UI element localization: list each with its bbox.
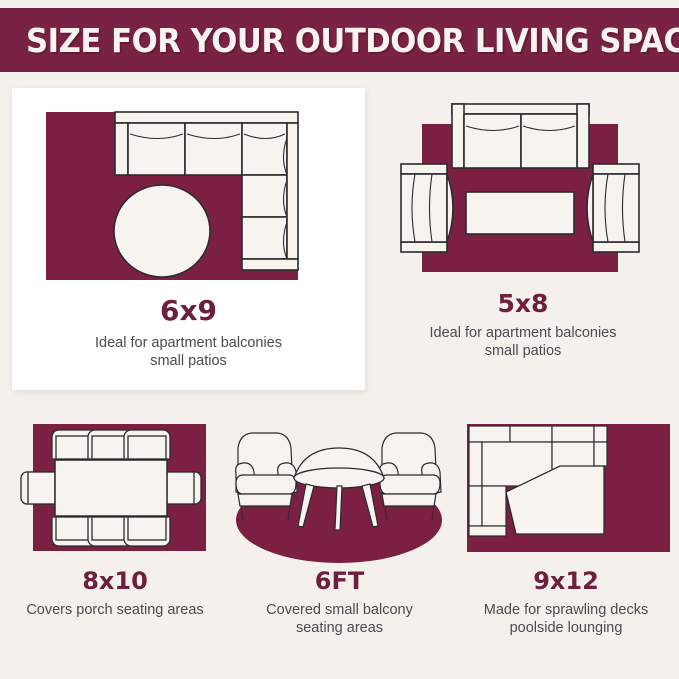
size-card-8x10[interactable]: 8x10 Covers porch seating areas	[4, 418, 226, 668]
size-card-5x8[interactable]: 5x8 Ideal for apartment balconies small …	[378, 92, 668, 392]
size-description-9x12: Made for sprawling decks poolside loungi…	[453, 601, 679, 637]
size-description-6ft: Covered small balcony seating areas	[227, 601, 452, 637]
size-label-5x8: 5x8	[378, 289, 668, 318]
size-label-9x12: 9x12	[453, 567, 679, 595]
size-label-6ft: 6FT	[227, 567, 452, 595]
desc-line: seating areas	[227, 619, 452, 637]
desc-line: Ideal for apartment balconies	[378, 324, 668, 342]
header-banner: SIZE FOR YOUR OUTDOOR LIVING SPACE	[0, 8, 679, 72]
size-label-8x10: 8x10	[4, 567, 226, 595]
desc-line: small patios	[378, 342, 668, 360]
size-guide-grid: 6x9 Ideal for apartment balconies small …	[0, 72, 679, 679]
size-description-6x9: Ideal for apartment balconies small pati…	[12, 334, 365, 370]
diagram-6x9	[44, 108, 334, 288]
size-card-9x12[interactable]: 9x12 Made for sprawling decks poolside l…	[453, 418, 679, 668]
diagram-6ft	[232, 418, 447, 563]
desc-line: Made for sprawling decks	[453, 601, 679, 619]
diagram-9x12	[461, 418, 676, 563]
size-description-8x10: Covers porch seating areas	[4, 601, 226, 619]
diagram-8x10	[15, 418, 215, 558]
diagram-5x8	[395, 100, 655, 290]
desc-line: small patios	[12, 352, 365, 370]
desc-line: Covers porch seating areas	[4, 601, 226, 619]
size-card-6x9[interactable]: 6x9 Ideal for apartment balconies small …	[12, 88, 365, 390]
desc-line: Covered small balcony	[227, 601, 452, 619]
size-label-6x9: 6x9	[12, 294, 365, 327]
desc-line: poolside lounging	[453, 619, 679, 637]
size-card-6ft[interactable]: 6FT Covered small balcony seating areas	[227, 418, 452, 668]
page-title: SIZE FOR YOUR OUTDOOR LIVING SPACE	[26, 21, 679, 60]
size-description-5x8: Ideal for apartment balconies small pati…	[378, 324, 668, 360]
desc-line: Ideal for apartment balconies	[12, 334, 365, 352]
